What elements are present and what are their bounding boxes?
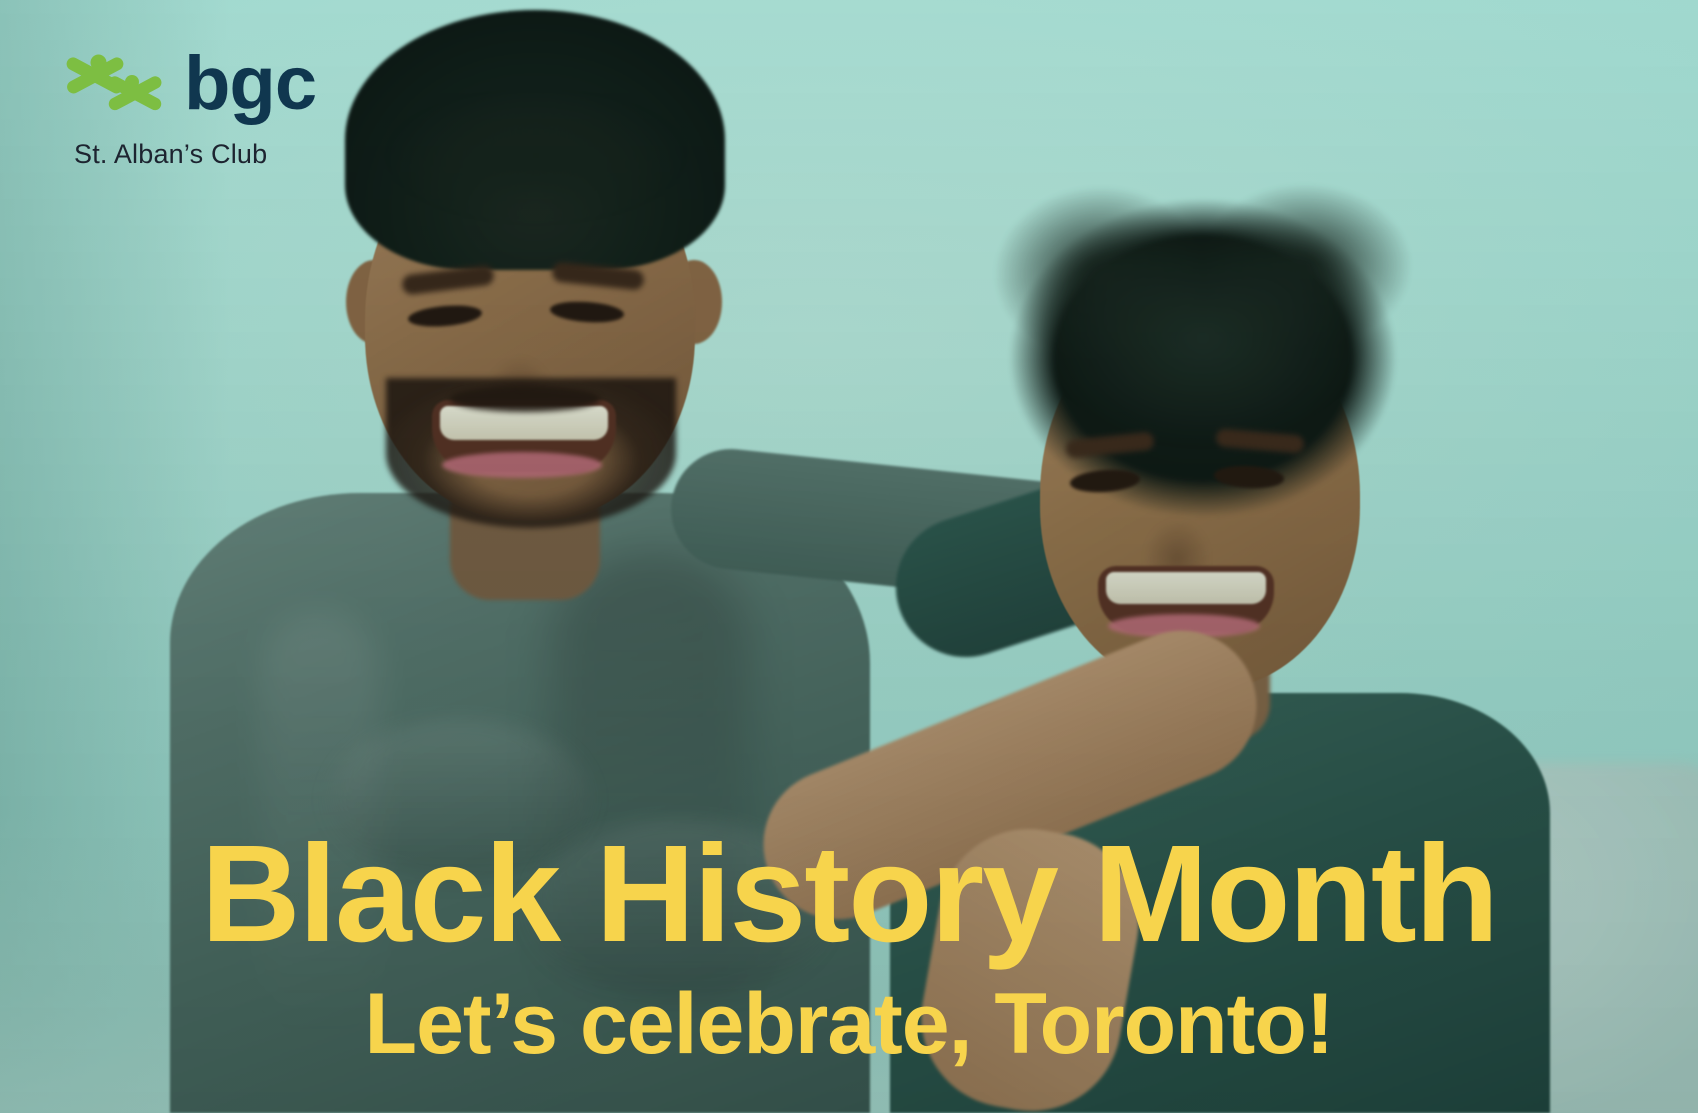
adult-lower-lip (442, 452, 602, 478)
subject-youth (830, 0, 1610, 1113)
fabric-fold (330, 720, 590, 880)
bgc-logo[interactable]: bgc St. Alban’s Club (62, 52, 362, 170)
adult-moustache (450, 386, 600, 412)
club-name: St. Alban’s Club (74, 139, 362, 170)
adult-hair (345, 10, 725, 270)
youth-teeth (1106, 572, 1266, 604)
black-history-month-poster: bgc St. Alban’s Club Black History Month… (0, 0, 1698, 1113)
logo-row: bgc (62, 52, 362, 117)
bgc-people-mark-icon (62, 53, 168, 115)
bgc-wordmark: bgc (184, 52, 316, 117)
